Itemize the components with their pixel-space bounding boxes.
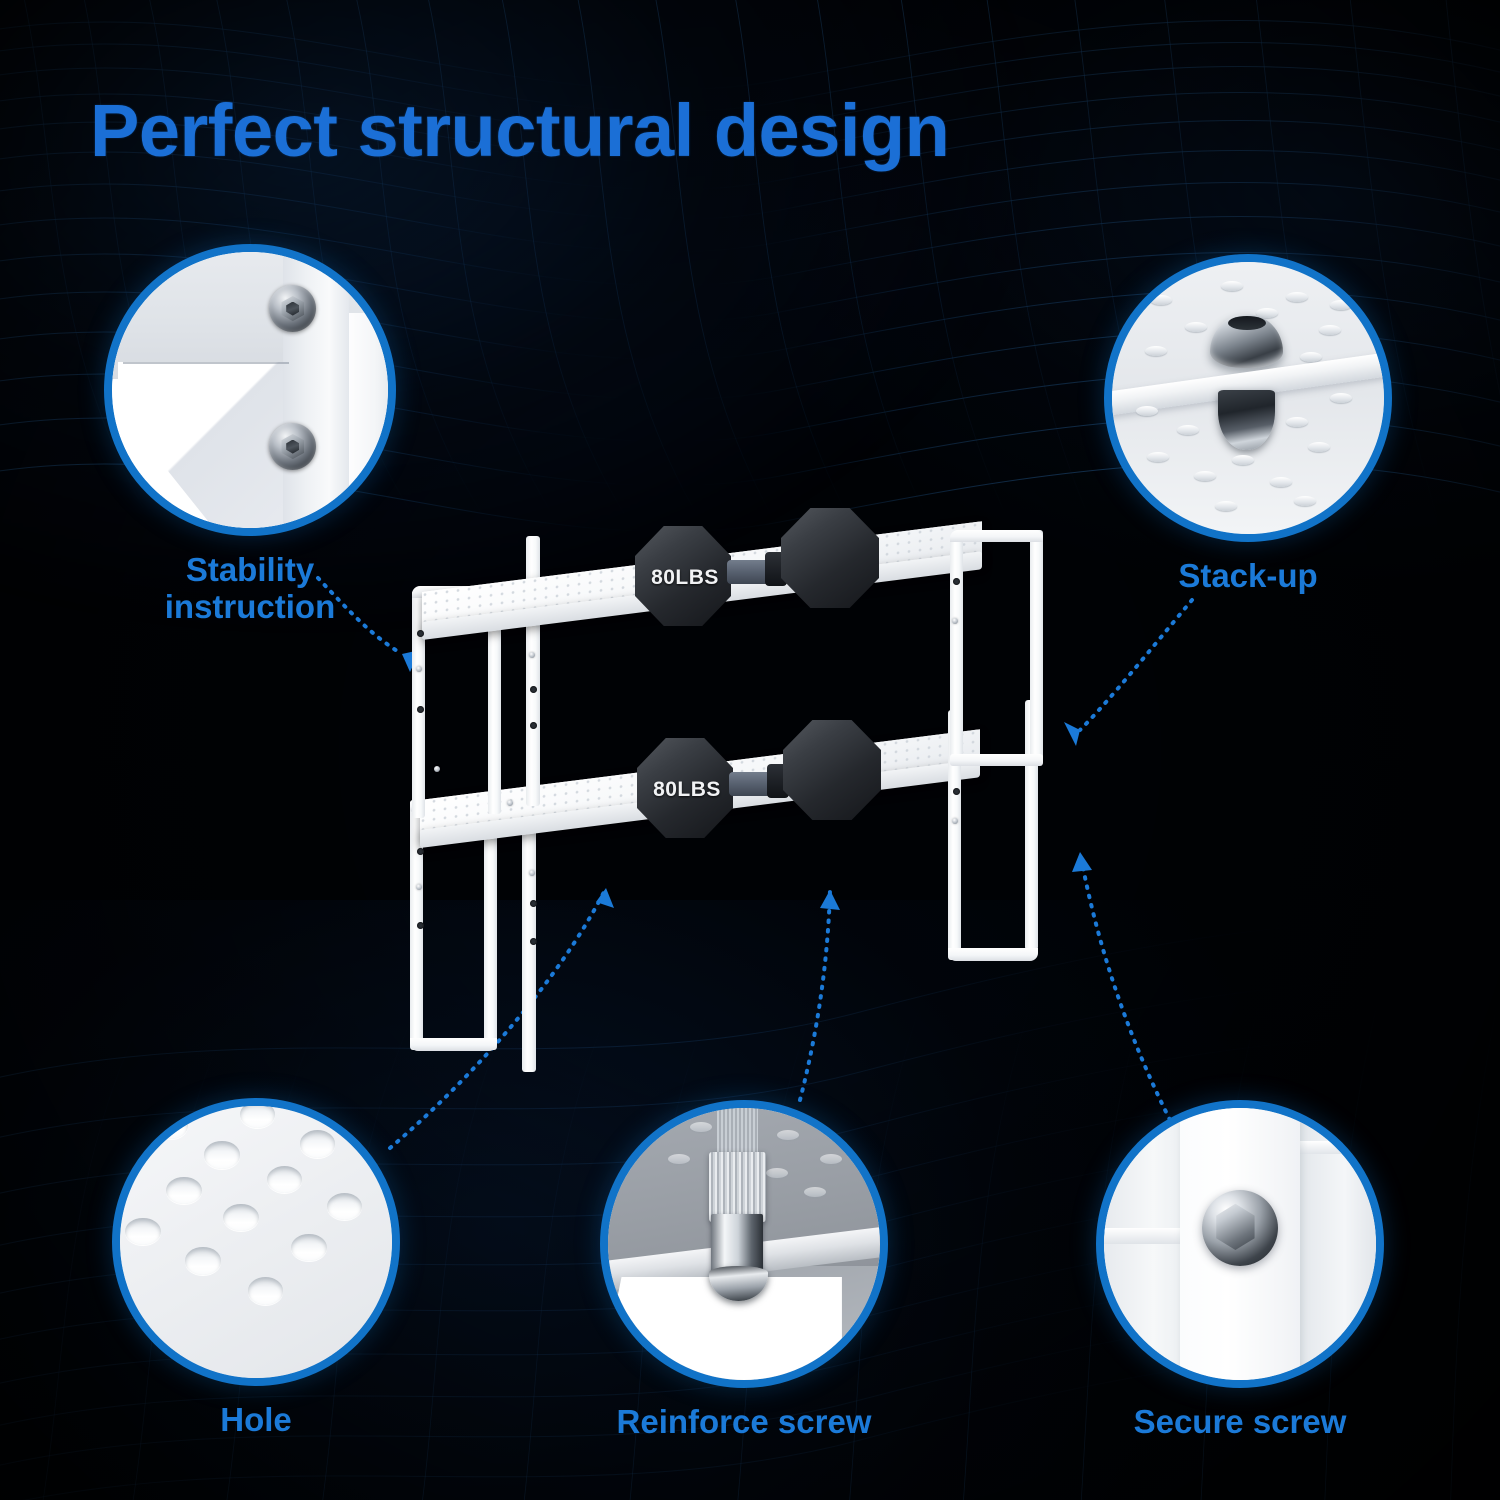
shelf-crossbar-upper-right (950, 530, 1043, 542)
callout-label-hole: Hole (96, 1402, 416, 1439)
dumbbell-upper: 80LBS (635, 508, 885, 628)
callout-stability-instruction[interactable]: Stability instruction (104, 244, 396, 536)
frame-screw (416, 666, 422, 672)
callout-reinforce-screw[interactable]: Reinforce screw (600, 1100, 888, 1388)
callout-circle-stackup[interactable] (1104, 254, 1392, 542)
dumbbell-grip (727, 560, 769, 584)
adjust-hole (530, 938, 537, 945)
adjust-hole (953, 788, 960, 795)
hex-socket-screw-icon (1104, 1108, 1376, 1380)
adjust-hole (530, 900, 537, 907)
callout-stack-up[interactable]: Stack-up (1104, 254, 1392, 542)
frame-screw (529, 870, 535, 876)
callout-label-secure: Secure screw (1080, 1404, 1400, 1441)
frame-screw (434, 766, 440, 772)
panel-hole (291, 1234, 326, 1261)
chrome-foot-icon (1218, 390, 1275, 450)
callout-hole[interactable]: Hole (112, 1098, 400, 1386)
knurled-collar-icon (709, 1152, 766, 1223)
dumbbell-head-right (781, 508, 879, 608)
callout-circle-secure[interactable] (1096, 1100, 1384, 1388)
dumbbell-weight-label: 80LBS (641, 566, 729, 590)
panel-hole (155, 1111, 188, 1138)
adjust-hole (417, 922, 424, 929)
callout-circle-hole[interactable] (112, 1098, 400, 1386)
adjust-hole (953, 578, 960, 585)
shelf-foot-lower-right (948, 948, 1038, 961)
frame-screw (952, 818, 958, 824)
panel-hole (240, 1106, 275, 1128)
callout-label-reinforce: Reinforce screw (584, 1404, 904, 1441)
infographic-canvas: Perfect structural design (0, 0, 1500, 1500)
shelf-crossbar-upper-right-low (950, 754, 1043, 766)
panel-hole (267, 1166, 302, 1193)
shelf-foot-lower-left (410, 1038, 497, 1051)
panel-hole (185, 1247, 220, 1274)
frame-screw (952, 618, 958, 624)
shelf-leg-upper-right-front (950, 536, 963, 766)
hex-socket-head-icon (1202, 1190, 1278, 1266)
panel-hole (204, 1141, 239, 1168)
dumbbell-weight-label: 80LBS (643, 778, 731, 802)
product-shelf-unit: 80LBS 80LBS (400, 500, 1100, 1080)
frame-screw (507, 800, 513, 806)
callout-label-stability: Stability instruction (90, 552, 410, 626)
panel-hole (300, 1130, 335, 1157)
callout-secure-screw[interactable]: Secure screw (1096, 1100, 1384, 1388)
frame-screw (416, 884, 422, 890)
adjust-hole (417, 630, 424, 637)
page-title: Perfect structural design (90, 88, 949, 173)
panel-hole (166, 1177, 201, 1204)
callout-label-stackup: Stack-up (1088, 558, 1408, 595)
hex-screw-bracket-icon (112, 252, 388, 528)
knurled-screw-icon (608, 1108, 880, 1380)
callout-circle-reinforce[interactable] (600, 1100, 888, 1388)
adjust-hole (417, 848, 424, 855)
panel-hole (327, 1193, 362, 1220)
chrome-dome-cap-icon (1112, 262, 1384, 534)
perforated-panel-icon (120, 1106, 392, 1378)
dumbbell-lower: 80LBS (637, 718, 887, 838)
dumbbell-head-right (783, 720, 881, 820)
chrome-barrel-icon (711, 1214, 763, 1274)
hex-screw-upper-icon (269, 285, 316, 332)
hex-screw-lower-icon (269, 423, 316, 470)
callout-circle-stability[interactable] (104, 244, 396, 536)
panel-hole (248, 1277, 283, 1304)
panel-hole (125, 1218, 160, 1245)
adjust-hole (530, 686, 537, 693)
panel-hole (223, 1204, 258, 1231)
adjust-hole (417, 706, 424, 713)
shelf-leg-upper-right-rear (1030, 530, 1043, 760)
adjust-hole (530, 722, 537, 729)
frame-screw (529, 652, 535, 658)
dumbbell-grip (729, 772, 771, 796)
dome-cap-icon (1210, 314, 1283, 368)
